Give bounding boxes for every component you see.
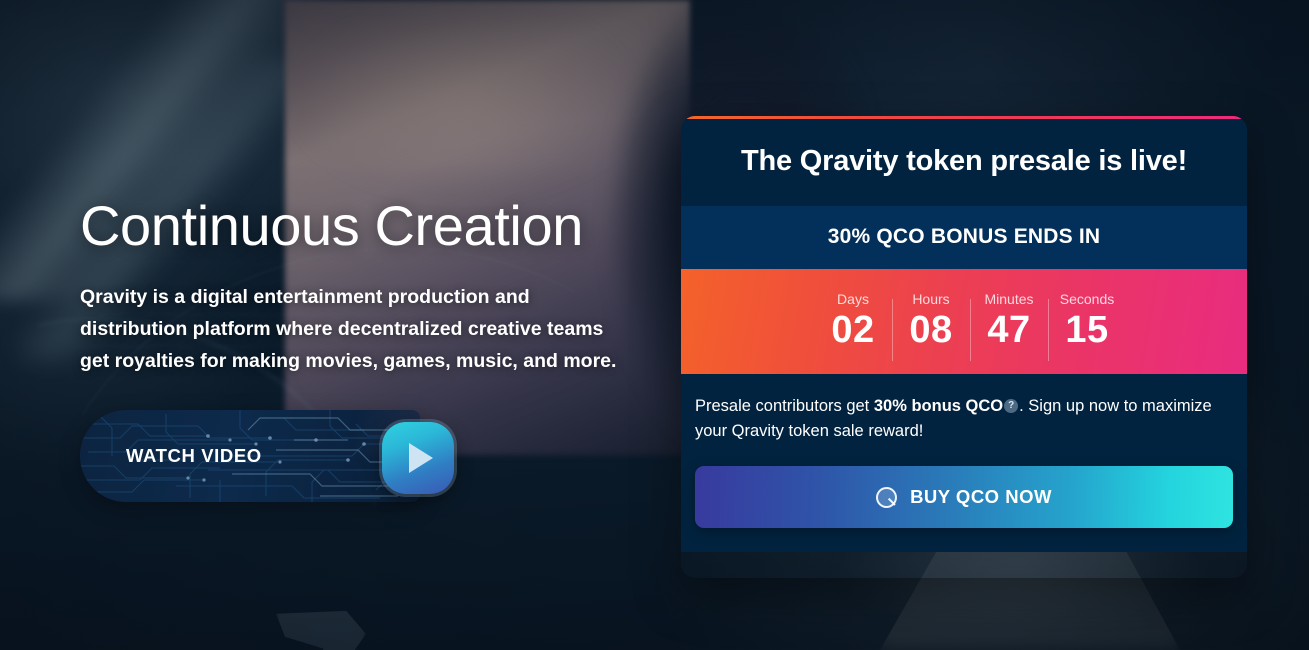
card-header: The Qravity token presale is live! — [681, 119, 1247, 206]
card-bonus-band: 30% QCO BONUS ENDS IN — [681, 206, 1247, 269]
hero-section: Continuous Creation Qravity is a digital… — [0, 0, 1309, 650]
help-question-icon[interactable]: ? — [1004, 399, 1018, 413]
countdown-value: 02 — [817, 308, 889, 353]
buy-qco-button[interactable]: BUY QCO NOW — [695, 466, 1233, 528]
play-button[interactable] — [382, 422, 454, 494]
hero-copy: Continuous Creation Qravity is a digital… — [80, 196, 660, 378]
description-highlight: 30% bonus QCO — [874, 397, 1003, 415]
countdown-label: Seconds — [1051, 291, 1123, 307]
countdown-value: 08 — [895, 308, 967, 353]
qravity-logo-icon — [876, 487, 897, 508]
card-description: Presale contributors get 30% bonus QCO?.… — [695, 394, 1233, 444]
countdown-unit-minutes: Minutes 47 — [970, 291, 1048, 353]
bonus-heading: 30% QCO BONUS ENDS IN — [701, 225, 1227, 249]
description-lead: Presale contributors get — [695, 397, 874, 415]
countdown-label: Days — [817, 291, 889, 307]
countdown-unit-seconds: Seconds 15 — [1048, 291, 1126, 353]
buy-qco-label: BUY QCO NOW — [910, 486, 1052, 508]
countdown-label: Minutes — [973, 291, 1045, 307]
presale-card: The Qravity token presale is live! 30% Q… — [681, 116, 1247, 578]
countdown-unit-hours: Hours 08 — [892, 291, 970, 353]
countdown-value: 15 — [1051, 308, 1123, 353]
watch-video-label: WATCH VIDEO — [126, 445, 262, 467]
watch-video-button[interactable]: WATCH VIDEO — [80, 410, 420, 502]
countdown-unit-days: Days 02 — [814, 291, 892, 353]
countdown-timer: Days 02 Hours 08 Minutes 47 Seconds 15 — [681, 269, 1247, 374]
play-icon — [409, 443, 433, 473]
countdown-value: 47 — [973, 308, 1045, 353]
card-body: Presale contributors get 30% bonus QCO?.… — [681, 374, 1247, 552]
watch-video-area: WATCH VIDEO — [80, 410, 460, 506]
hero-description: Qravity is a digital entertainment produ… — [80, 282, 636, 377]
card-title: The Qravity token presale is live! — [701, 145, 1227, 178]
countdown-label: Hours — [895, 291, 967, 307]
page-title: Continuous Creation — [80, 196, 660, 256]
